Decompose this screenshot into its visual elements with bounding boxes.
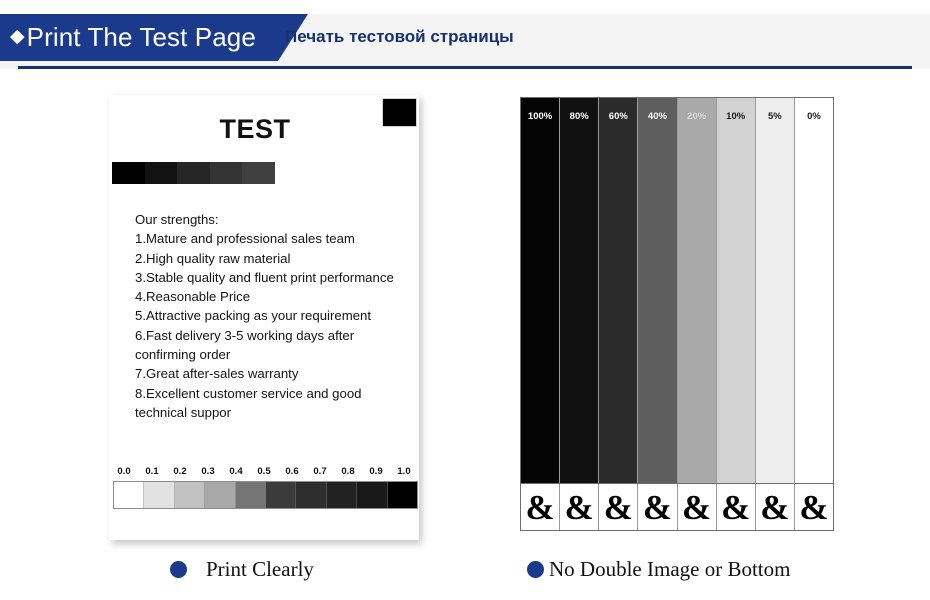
density-test-chart: 100%80%60%40%20%10%5%0% &&&&&&&& bbox=[520, 97, 834, 531]
bullet-dot-icon bbox=[170, 561, 187, 578]
grayscale-tick-labels: 0.00.10.20.30.40.50.60.70.80.91.0 bbox=[110, 466, 418, 477]
tick-label-1: 0.1 bbox=[138, 466, 166, 477]
dark-gradient-bar bbox=[112, 162, 275, 184]
tick-label-4: 0.4 bbox=[222, 466, 250, 477]
body-line-7: confirming order bbox=[135, 345, 417, 364]
test-page-body-text: Our strengths:1.Mature and professional … bbox=[135, 210, 417, 422]
density-label: 60% bbox=[609, 112, 628, 483]
density-column-100pct: 100% bbox=[521, 98, 560, 483]
ampersand-cell-4: & bbox=[678, 484, 717, 530]
density-columns: 100%80%60%40%20%10%5%0% bbox=[521, 98, 833, 483]
tick-label-0: 0.0 bbox=[110, 466, 138, 477]
tick-label-5: 0.5 bbox=[250, 466, 278, 477]
wedge-step-9 bbox=[388, 482, 417, 508]
wedge-step-0 bbox=[114, 482, 144, 508]
ampersand-cell-7: & bbox=[795, 484, 833, 530]
ampersand-cell-5: & bbox=[717, 484, 756, 530]
wedge-step-6 bbox=[296, 482, 326, 508]
gradient-segment-1 bbox=[145, 162, 178, 184]
density-patch: 100% bbox=[521, 98, 559, 483]
density-label: 10% bbox=[726, 112, 745, 483]
body-line-2: 2.High quality raw material bbox=[135, 249, 417, 268]
header-banner: ◆ Print The Test Page bbox=[0, 14, 308, 61]
density-patch: 60% bbox=[599, 98, 637, 483]
wedge-step-8 bbox=[357, 482, 387, 508]
density-label: 40% bbox=[648, 112, 667, 483]
tick-label-3: 0.3 bbox=[194, 466, 222, 477]
ampersand-cell-2: & bbox=[599, 484, 638, 530]
gradient-segment-4 bbox=[242, 162, 275, 184]
density-column-0pct: 0% bbox=[795, 98, 833, 483]
density-label: 5% bbox=[768, 112, 782, 483]
ampersand-cell-1: & bbox=[560, 484, 599, 530]
ampersand-cell-3: & bbox=[638, 484, 677, 530]
density-column-5pct: 5% bbox=[756, 98, 795, 483]
caption-left-label: Print Clearly bbox=[206, 557, 314, 582]
page-title: Print The Test Page bbox=[27, 22, 256, 53]
body-line-8: 7.Great after-sales warranty bbox=[135, 364, 417, 383]
header-divider bbox=[18, 66, 912, 69]
body-line-10: technical suppor bbox=[135, 403, 417, 422]
wedge-step-3 bbox=[205, 482, 235, 508]
wedge-step-5 bbox=[266, 482, 296, 508]
body-line-5: 5.Attractive packing as your requirement bbox=[135, 306, 417, 325]
density-label: 0% bbox=[807, 112, 821, 483]
density-label: 20% bbox=[687, 112, 706, 483]
density-column-20pct: 20% bbox=[678, 98, 717, 483]
body-line-9: 8.Excellent customer service and good bbox=[135, 384, 417, 403]
density-column-60pct: 60% bbox=[599, 98, 638, 483]
tick-label-2: 0.2 bbox=[166, 466, 194, 477]
density-patch: 5% bbox=[756, 98, 794, 483]
body-line-0: Our strengths: bbox=[135, 210, 417, 229]
tick-label-9: 0.9 bbox=[362, 466, 390, 477]
tick-label-10: 1.0 bbox=[390, 466, 418, 477]
ampersand-row: &&&&&&&& bbox=[521, 483, 833, 530]
density-label: 80% bbox=[570, 112, 589, 483]
density-patch: 20% bbox=[678, 98, 716, 483]
tick-label-7: 0.7 bbox=[306, 466, 334, 477]
gradient-segment-3 bbox=[210, 162, 243, 184]
body-line-6: 6.Fast delivery 3-5 working days after bbox=[135, 326, 417, 345]
density-column-80pct: 80% bbox=[560, 98, 599, 483]
test-page-heading: TEST bbox=[109, 114, 401, 145]
tick-label-6: 0.6 bbox=[278, 466, 306, 477]
page-header: ◆ Print The Test Page Печать тестовой ст… bbox=[0, 14, 930, 69]
body-line-1: 1.Mature and professional sales team bbox=[135, 229, 417, 248]
density-patch: 10% bbox=[717, 98, 755, 483]
body-line-4: 4.Reasonable Price bbox=[135, 287, 417, 306]
caption-right-label: No Double Image or Bottom bbox=[549, 557, 790, 582]
ampersand-cell-0: & bbox=[521, 484, 560, 530]
density-label: 100% bbox=[528, 112, 552, 483]
wedge-step-7 bbox=[327, 482, 357, 508]
wedge-step-1 bbox=[144, 482, 174, 508]
wedge-step-4 bbox=[236, 482, 266, 508]
gradient-segment-2 bbox=[177, 162, 210, 184]
wedge-step-2 bbox=[175, 482, 205, 508]
page-subtitle: Печать тестовой страницы bbox=[285, 27, 514, 47]
ampersand-cell-6: & bbox=[756, 484, 795, 530]
solid-black-patch bbox=[382, 98, 417, 127]
density-column-40pct: 40% bbox=[638, 98, 677, 483]
tick-label-8: 0.8 bbox=[334, 466, 362, 477]
body-line-3: 3.Stable quality and fluent print perfor… bbox=[135, 268, 417, 287]
density-column-10pct: 10% bbox=[717, 98, 756, 483]
density-patch: 40% bbox=[638, 98, 676, 483]
gradient-segment-0 bbox=[112, 162, 145, 184]
grayscale-step-wedge bbox=[113, 481, 418, 509]
density-patch: 0% bbox=[795, 98, 833, 483]
test-page-document: TEST Our strengths:1.Mature and professi… bbox=[109, 95, 419, 540]
diamond-bullet-icon: ◆ bbox=[10, 27, 25, 46]
density-patch: 80% bbox=[560, 98, 598, 483]
caption-no-double-image: No Double Image or Bottom bbox=[527, 557, 790, 582]
caption-print-clearly: Print Clearly bbox=[170, 557, 314, 582]
bullet-dot-icon bbox=[527, 561, 544, 578]
